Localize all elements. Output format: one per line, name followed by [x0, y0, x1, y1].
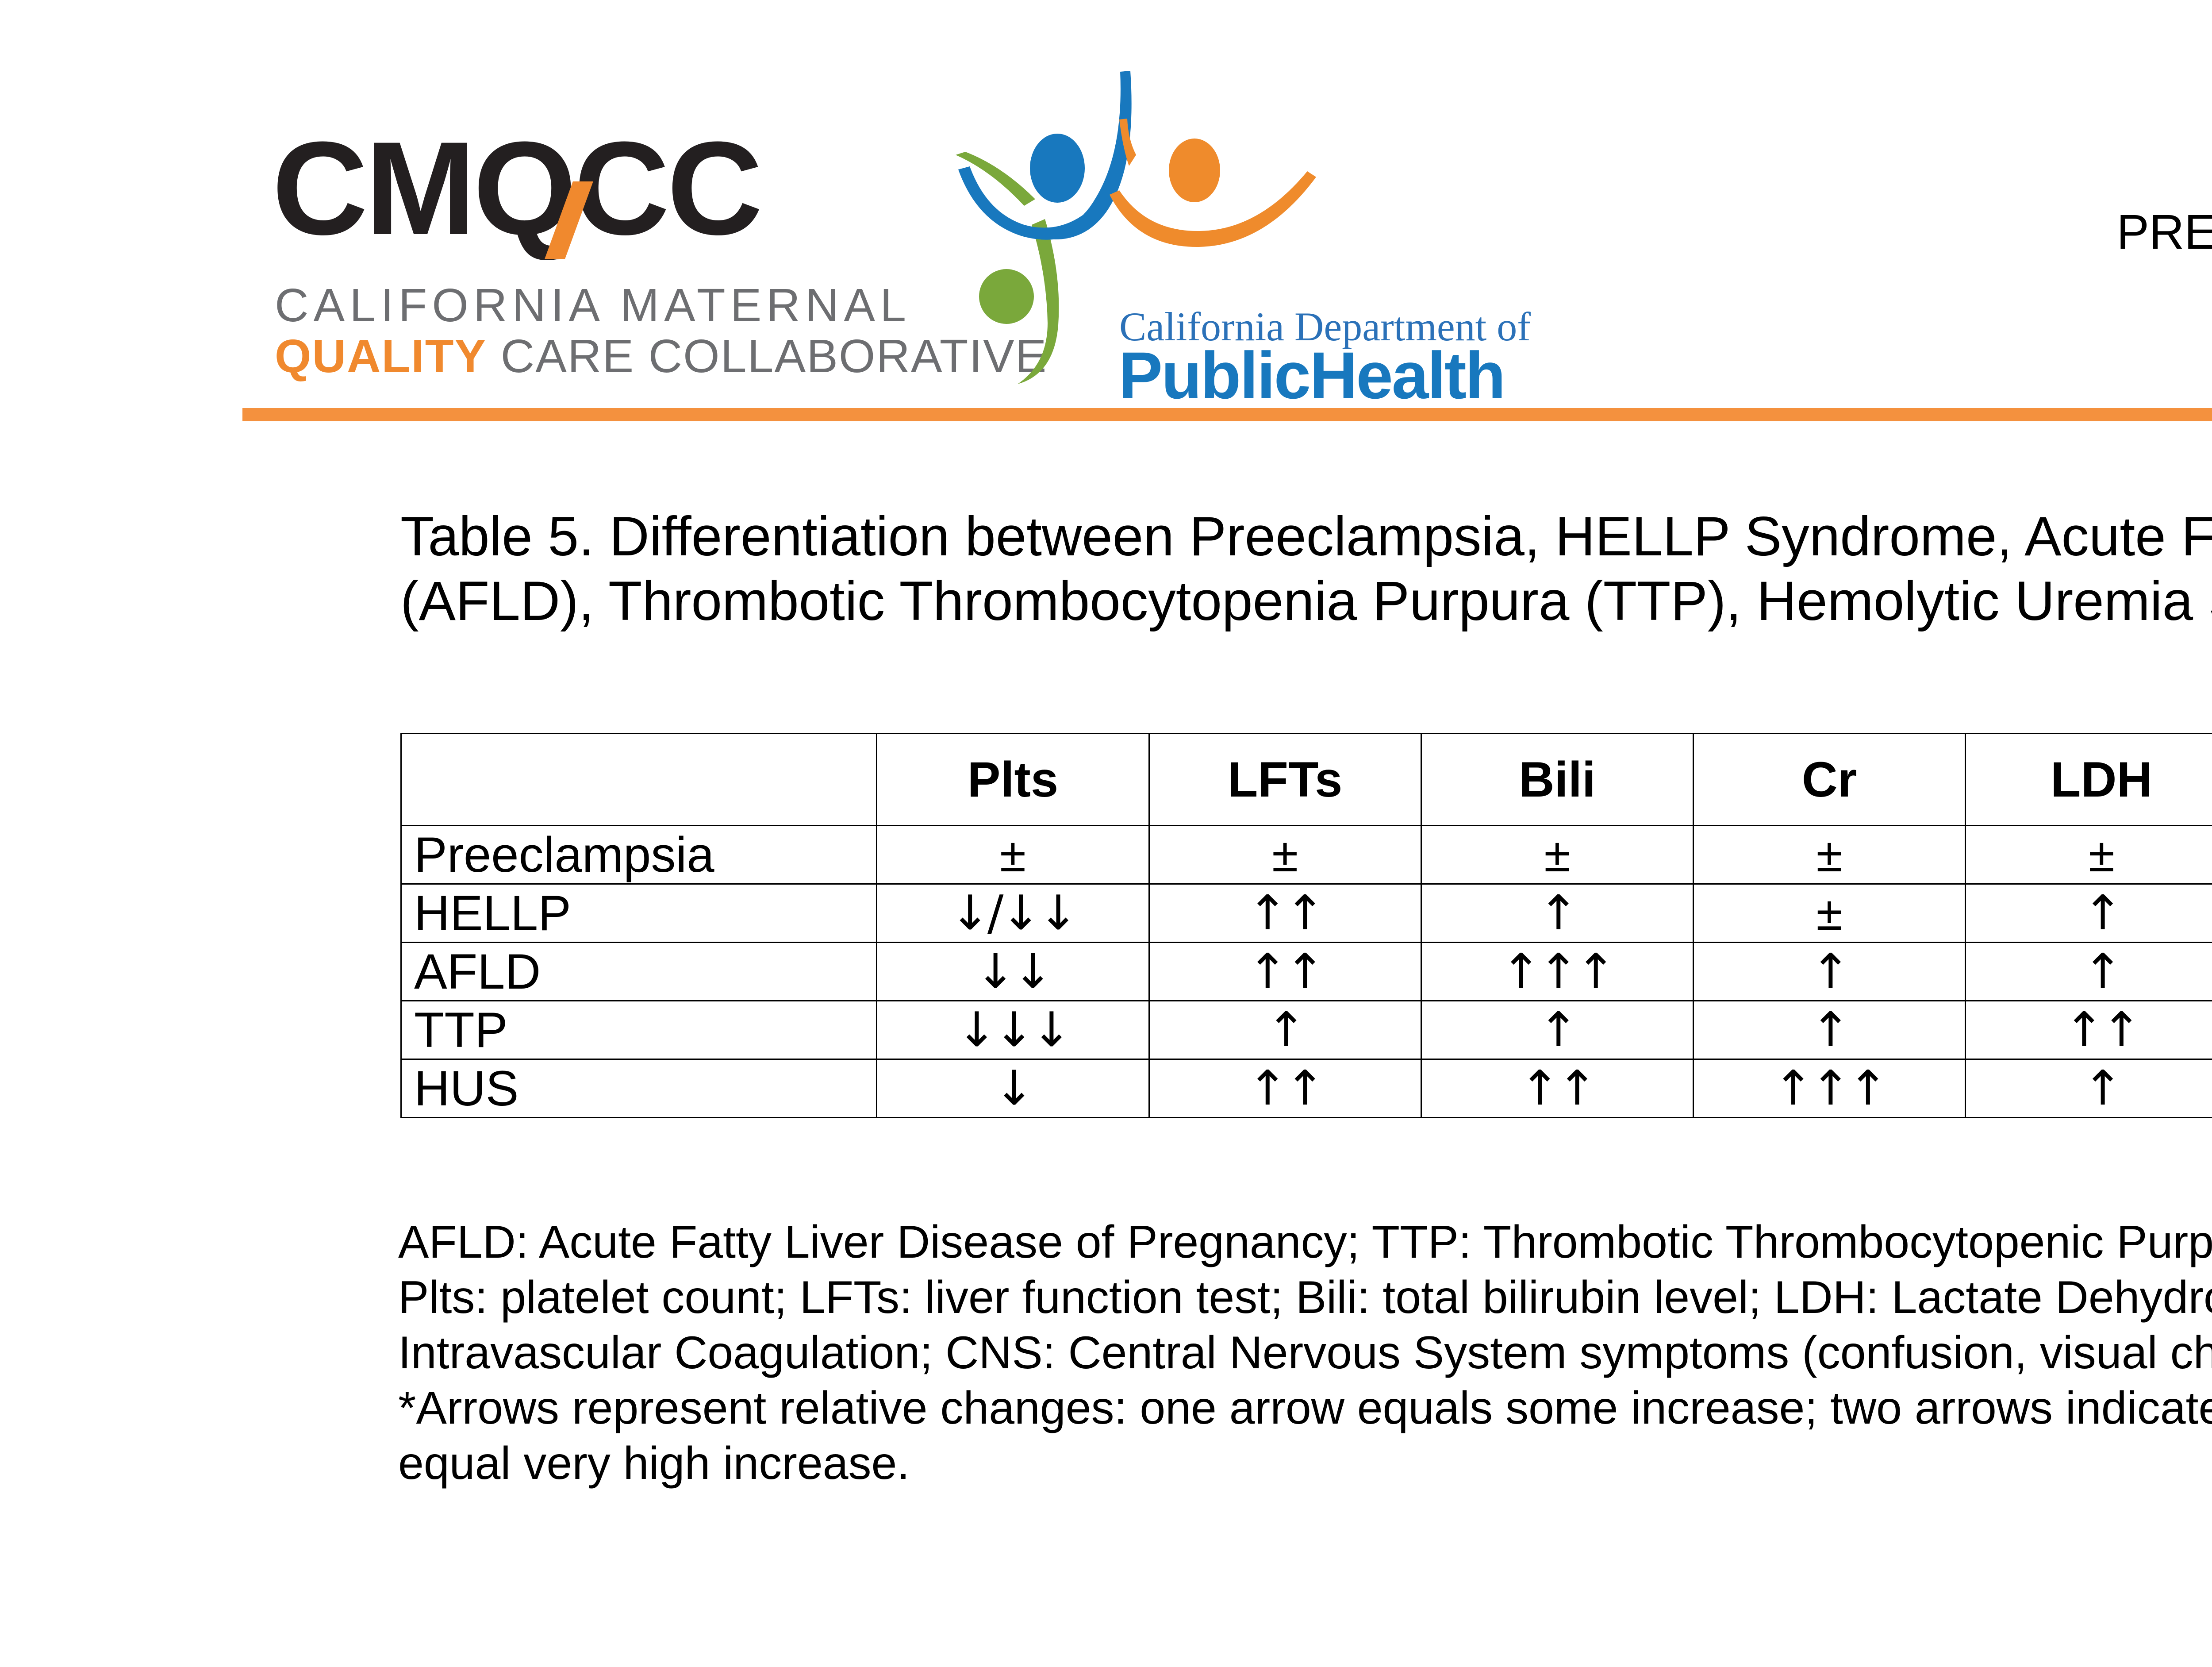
row-label-hellp: HELLP	[401, 884, 877, 943]
cell-hellp-cr: ±	[1693, 884, 1965, 943]
page-header: CMQCC CALIFORNIA MATERNAL QUALITY CARE C…	[0, 0, 2212, 431]
cell-preeclampsia-cr: ±	[1693, 826, 1965, 884]
cell-hellp-ldh: ↑	[1966, 884, 2212, 943]
cell-hus-bili: ↑↑	[1421, 1059, 1693, 1118]
cell-afld-ldh: ↑	[1966, 943, 2212, 1001]
footnote-arrow-legend: *Arrows represent relative changes: one …	[398, 1381, 2212, 1491]
cell-afld-cr: ↑	[1693, 943, 1965, 1001]
header-title-line-1: PREECLAMPSIA CARE GUIDELINES AND	[2116, 201, 2212, 263]
cell-ttp-plts: ↓↓↓	[877, 1001, 1149, 1059]
cmqcc-logo: CMQCC CALIFORNIA MATERNAL QUALITY CARE C…	[272, 100, 852, 383]
column-header-bili: Bili	[1421, 734, 1693, 826]
table-row: AFLD ↓↓ ↑↑ ↑↑↑ ↑ ↑ ↓↓↓ ↑↑↑ ±	[401, 943, 2212, 1001]
row-label-preeclampsia: Preeclampsia	[401, 826, 877, 884]
table-corner-header	[401, 734, 877, 826]
orange-divider-rule	[242, 408, 2212, 421]
table-row: HUS ↓ ↑↑ ↑↑ ↑↑↑ ↑ → ± ±	[401, 1059, 2212, 1118]
cell-afld-lfts: ↑↑	[1149, 943, 1421, 1001]
cell-hus-plts: ↓	[877, 1059, 1149, 1118]
cell-hus-ldh: ↑	[1966, 1059, 2212, 1118]
cdph-logo: California Department of PublicHealth	[929, 66, 1526, 385]
header-title-line-3: CDPH-MCAH Approved: 12/20/13	[2116, 325, 2212, 387]
cell-preeclampsia-ldh: ±	[1966, 826, 2212, 884]
cell-hus-lfts: ↑↑	[1149, 1059, 1421, 1118]
row-label-hus: HUS	[401, 1059, 877, 1118]
table-row: HELLP ↓/↓↓ ↑↑ ↑ ± ↑ → ± ±	[401, 884, 2212, 943]
cell-ttp-bili: ↑	[1421, 1001, 1693, 1059]
column-header-lfts: LFTs	[1149, 734, 1421, 826]
cdph-text-bottom: PublicHealth	[1118, 337, 1505, 414]
footnote-abbreviations: AFLD: Acute Fatty Liver Disease of Pregn…	[398, 1215, 2212, 1381]
cmqcc-tagline-line1: CALIFORNIA MATERNAL	[275, 279, 911, 332]
cell-hus-cr: ↑↑↑	[1693, 1059, 1965, 1118]
cell-ttp-lfts: ↑	[1149, 1001, 1421, 1059]
cmqcc-tagline-quality: QUALITY	[275, 330, 487, 382]
cell-hellp-lfts: ↑↑	[1149, 884, 1421, 943]
row-label-afld: AFLD	[401, 943, 877, 1001]
table-row: Preeclampsia ± ± ± ± ± → ± ±	[401, 826, 2212, 884]
cell-afld-plts: ↓↓	[877, 943, 1149, 1001]
cell-afld-bili: ↑↑↑	[1421, 943, 1693, 1001]
column-header-cr: Cr	[1693, 734, 1965, 826]
table-row: TTP ↓↓↓ ↑ ↑ ↑ ↑↑ → ± ++	[401, 1001, 2212, 1059]
table-header-row: Plts LFTs Bili Cr LDH Glu DIC CNS	[401, 734, 2212, 826]
differentiation-table: Plts LFTs Bili Cr LDH Glu DIC CNS Preecl…	[400, 733, 2212, 1118]
column-header-plts: Plts	[877, 734, 1149, 826]
cell-preeclampsia-plts: ±	[877, 826, 1149, 884]
table-title: Table 5. Differentiation between Preecla…	[400, 504, 2212, 634]
header-title-line-2: CMQCC PREECLAMPSIA TOOLKIT	[2116, 263, 2212, 325]
header-title-block: PREECLAMPSIA CARE GUIDELINES AND CMQCC P…	[2116, 201, 2212, 387]
cell-ttp-cr: ↑	[1693, 1001, 1965, 1059]
cell-hellp-bili: ↑	[1421, 884, 1693, 943]
cell-ttp-ldh: ↑↑	[1966, 1001, 2212, 1059]
column-header-ldh: LDH	[1966, 734, 2212, 826]
footnotes-block: AFLD: Acute Fatty Liver Disease of Pregn…	[398, 1215, 2212, 1491]
cell-preeclampsia-lfts: ±	[1149, 826, 1421, 884]
cell-hellp-plts: ↓/↓↓	[877, 884, 1149, 943]
cell-preeclampsia-bili: ±	[1421, 826, 1693, 884]
row-label-ttp: TTP	[401, 1001, 877, 1059]
